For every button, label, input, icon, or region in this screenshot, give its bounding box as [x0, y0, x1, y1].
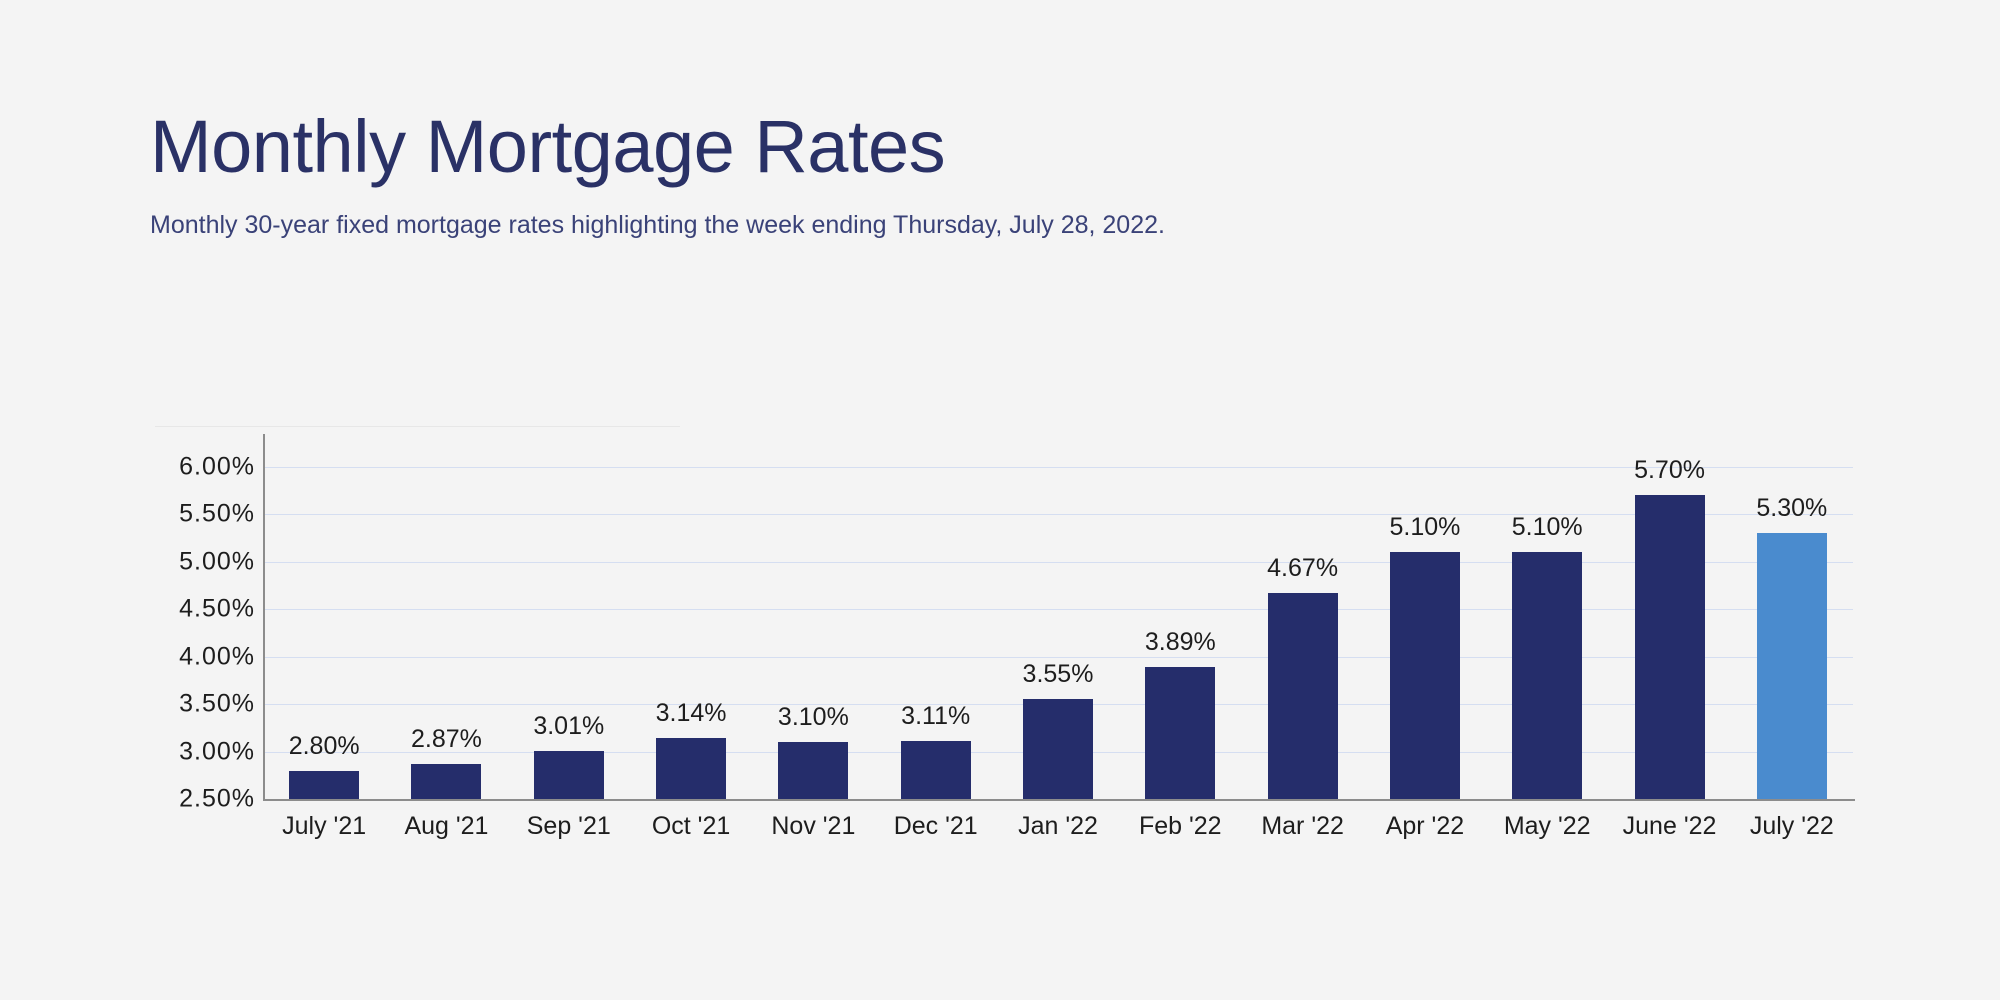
y-axis-tick-label: 6.00% [125, 453, 255, 482]
y-axis-tick-label: 2.50% [125, 785, 255, 814]
x-axis-tick-labels: July '21Aug '21Sep '21Oct '21Nov '21Dec … [263, 0, 1853, 1000]
y-axis-tick-label: 3.00% [125, 737, 255, 766]
y-axis-tick-label: 4.00% [125, 642, 255, 671]
y-axis-tick-label: 4.50% [125, 595, 255, 624]
chart-container: Monthly Mortgage Rates Monthly 30-year f… [0, 0, 2000, 1000]
y-axis-tick-label: 3.50% [125, 690, 255, 719]
y-axis-tick-label: 5.00% [125, 547, 255, 576]
y-axis-tick-label: 5.50% [125, 500, 255, 529]
x-axis-tick-label: July '22 [1717, 812, 1867, 841]
